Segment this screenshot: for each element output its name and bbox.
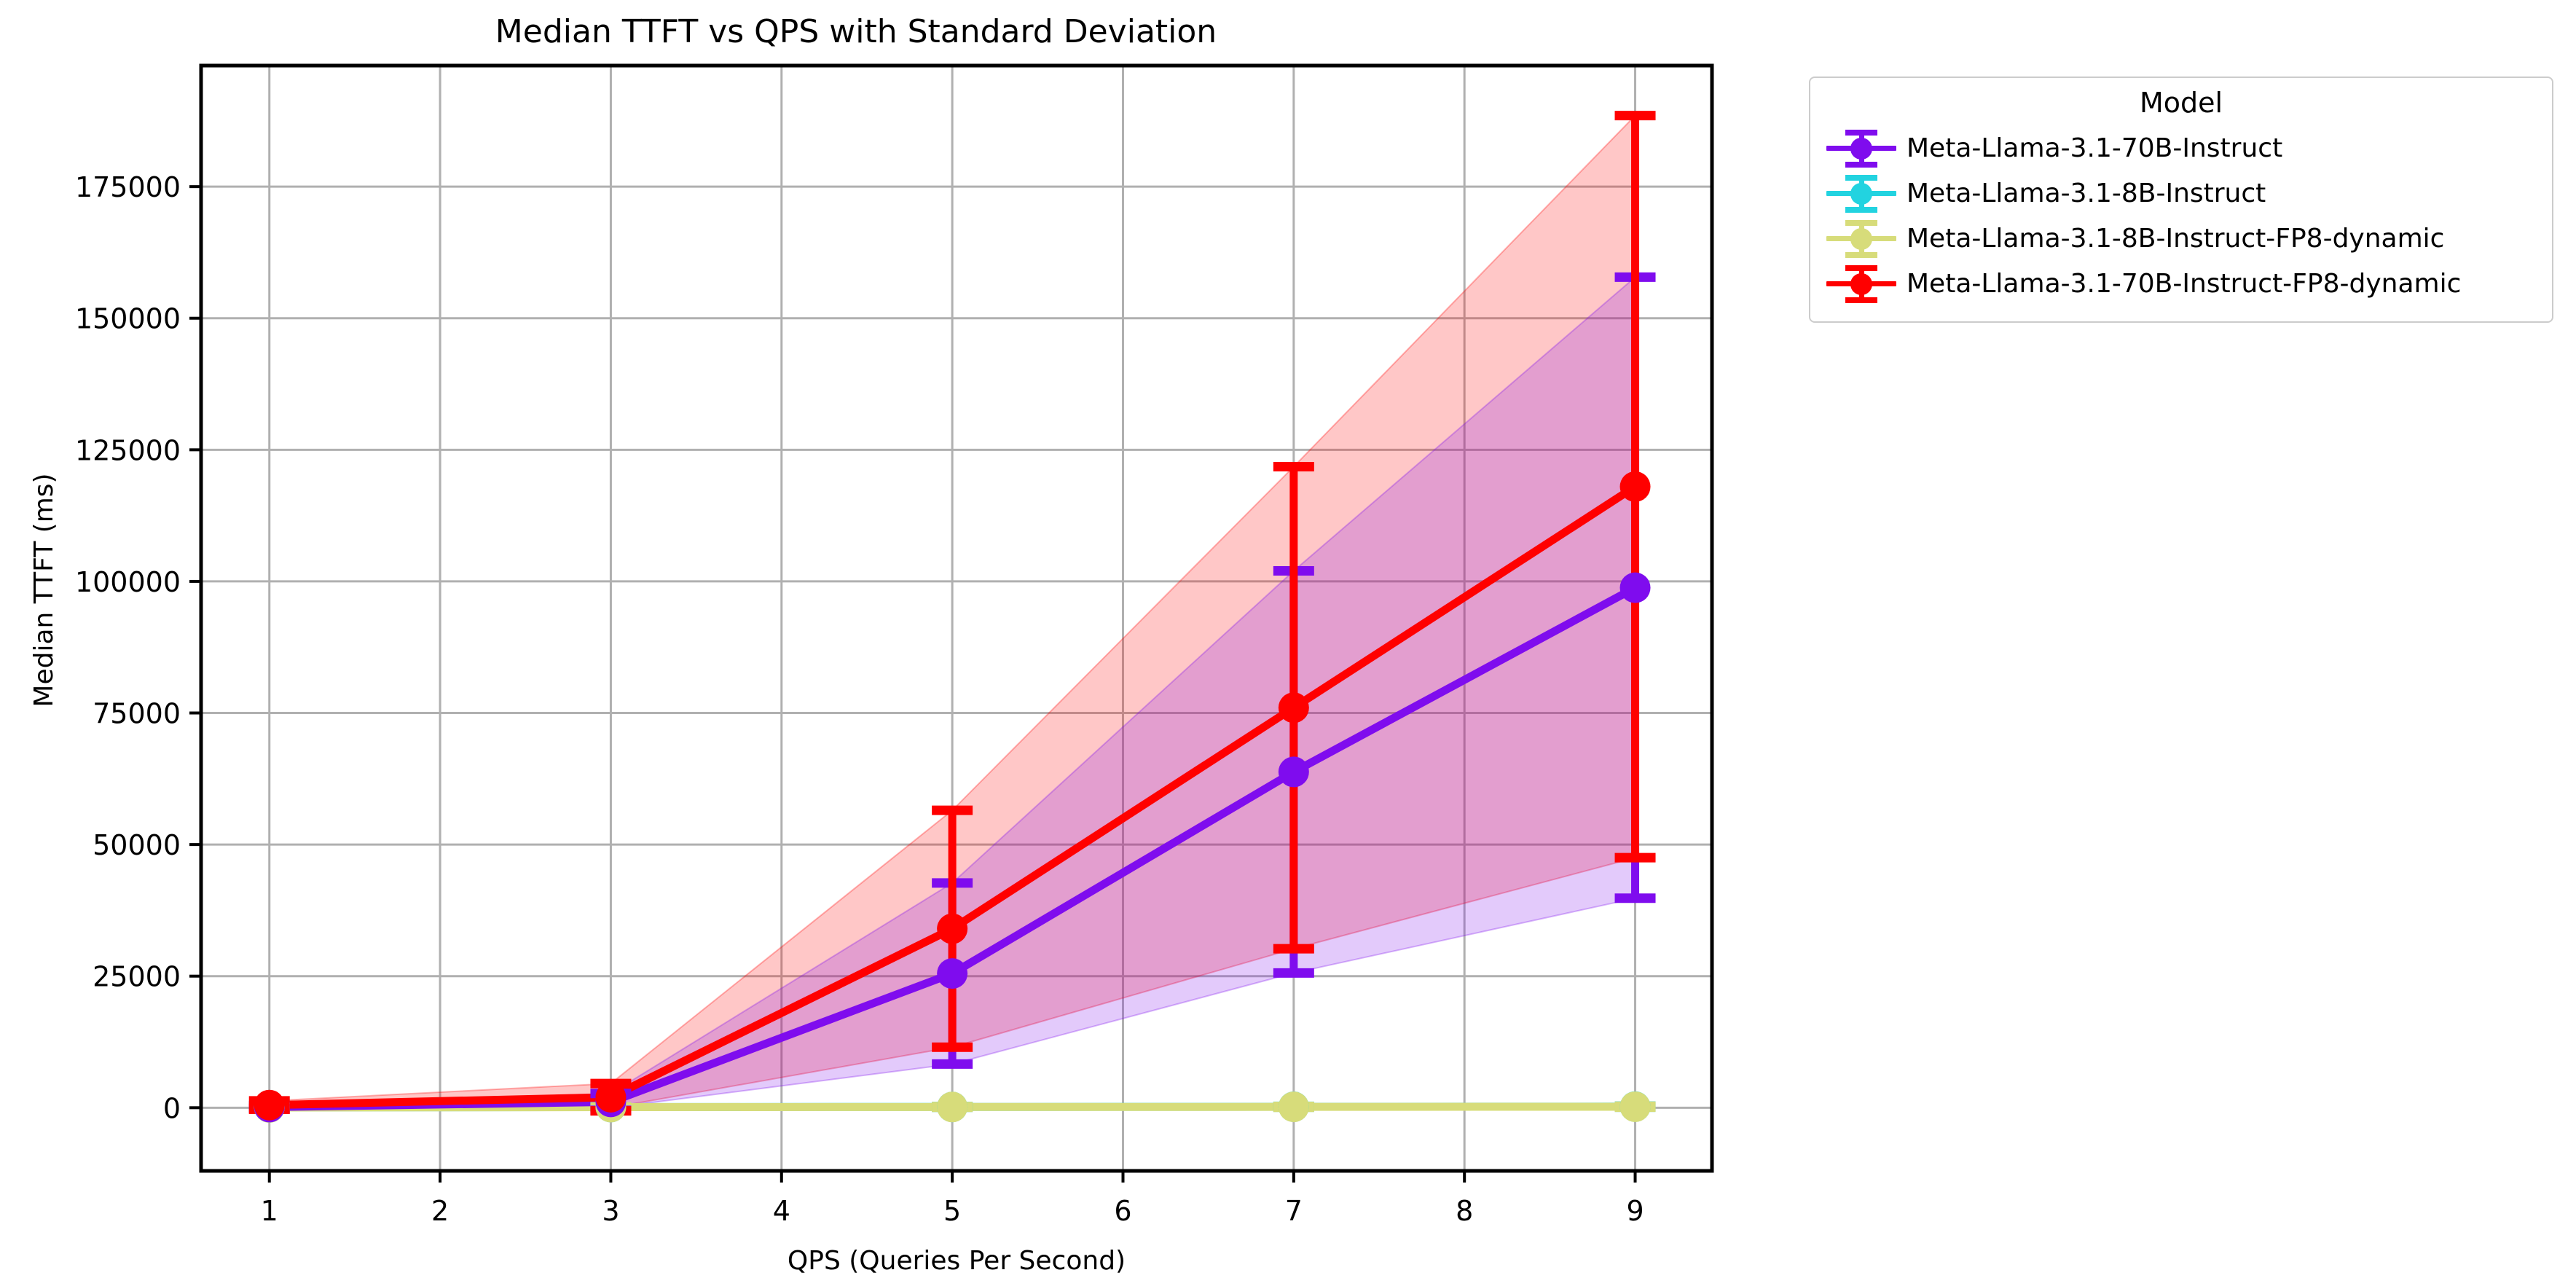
legend-entries: Meta-Llama-3.1-70B-InstructMeta-Llama-3.… [1826, 126, 2536, 307]
legend: Model Meta-Llama-3.1-70B-InstructMeta-Ll… [1809, 77, 2553, 323]
y-tick-label: 75000 [93, 698, 181, 730]
legend-entry[interactable]: Meta-Llama-3.1-8B-Instruct [1826, 171, 2536, 216]
legend-entry-label: Meta-Llama-3.1-8B-Instruct-FP8-dynamic [1907, 225, 2444, 253]
legend-entry[interactable]: Meta-Llama-3.1-70B-Instruct-FP8-dynamic [1826, 262, 2536, 307]
x-tick-label: 1 [261, 1195, 278, 1227]
x-tick-label: 4 [773, 1195, 790, 1227]
legend-entry[interactable]: Meta-Llama-3.1-70B-Instruct [1826, 126, 2536, 171]
legend-entry-label: Meta-Llama-3.1-70B-Instruct-FP8-dynamic [1907, 270, 2461, 298]
chart-figure: Median TTFT vs QPS with Standard Deviati… [0, 0, 2576, 1286]
x-tick-label: 5 [943, 1195, 961, 1227]
legend-entry[interactable]: Meta-Llama-3.1-8B-Instruct-FP8-dynamic [1826, 216, 2536, 262]
legend-marker-icon [1826, 219, 1896, 259]
y-tick-label: 100000 [75, 566, 181, 598]
x-tick-label: 2 [431, 1195, 449, 1227]
x-tick-label: 8 [1456, 1195, 1473, 1227]
y-tick-label: 25000 [93, 961, 181, 993]
legend-entry-label: Meta-Llama-3.1-8B-Instruct [1907, 180, 2266, 208]
x-tick-label: 3 [602, 1195, 619, 1227]
legend-title: Model [1826, 88, 2536, 119]
x-tick-label: 9 [1626, 1195, 1644, 1227]
x-tick-label: 7 [1285, 1195, 1303, 1227]
y-tick-label: 50000 [93, 829, 181, 861]
legend-marker-icon [1826, 173, 1896, 214]
y-tick-label: 150000 [75, 303, 181, 335]
legend-entry-label: Meta-Llama-3.1-70B-Instruct [1907, 135, 2282, 162]
legend-marker-icon [1826, 264, 1896, 305]
y-tick-label: 125000 [75, 434, 181, 466]
x-tick-label: 6 [1114, 1195, 1131, 1227]
y-tick-label: 175000 [75, 171, 181, 203]
legend-marker-icon [1826, 128, 1896, 169]
y-tick-label: 0 [163, 1092, 181, 1124]
